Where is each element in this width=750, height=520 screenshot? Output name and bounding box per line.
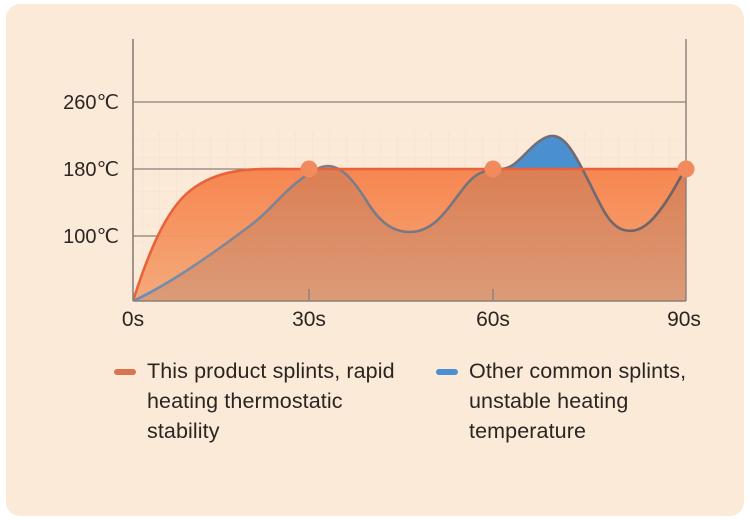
legend-item-product: This product splints, rapid heating ther… [114, 356, 414, 486]
x-tick-label-30s: 30s [292, 308, 326, 331]
marker-90s[interactable] [678, 161, 695, 178]
chart-legend: This product splints, rapid heating ther… [6, 356, 744, 486]
x-tick-label-60s: 60s [476, 308, 510, 331]
legend-dash-icon-product [114, 369, 136, 375]
marker-30s[interactable] [301, 161, 318, 178]
x-tick-label-0s: 0s [122, 308, 144, 331]
marker-60s[interactable] [485, 161, 502, 178]
legend-label-other: Other common splints, unstable heating t… [469, 356, 724, 446]
y-tick-label-260: 260℃ [63, 92, 119, 114]
x-tick-label-90s: 90s [667, 308, 701, 331]
legend-item-other: Other common splints, unstable heating t… [436, 356, 736, 486]
temperature-line-chart: 260℃ 180℃ 100℃ 0s 30s 60s 90s [6, 4, 744, 349]
legend-dash-icon-other [436, 369, 458, 375]
chart-panel: 260℃ 180℃ 100℃ 0s 30s 60s 90s This produ… [6, 4, 744, 516]
y-tick-label-180: 180℃ [63, 159, 119, 181]
chart-plot-area: 260℃ 180℃ 100℃ 0s 30s 60s 90s [6, 4, 744, 349]
legend-label-product: This product splints, rapid heating ther… [147, 356, 402, 446]
y-tick-label-100: 100℃ [63, 226, 119, 248]
